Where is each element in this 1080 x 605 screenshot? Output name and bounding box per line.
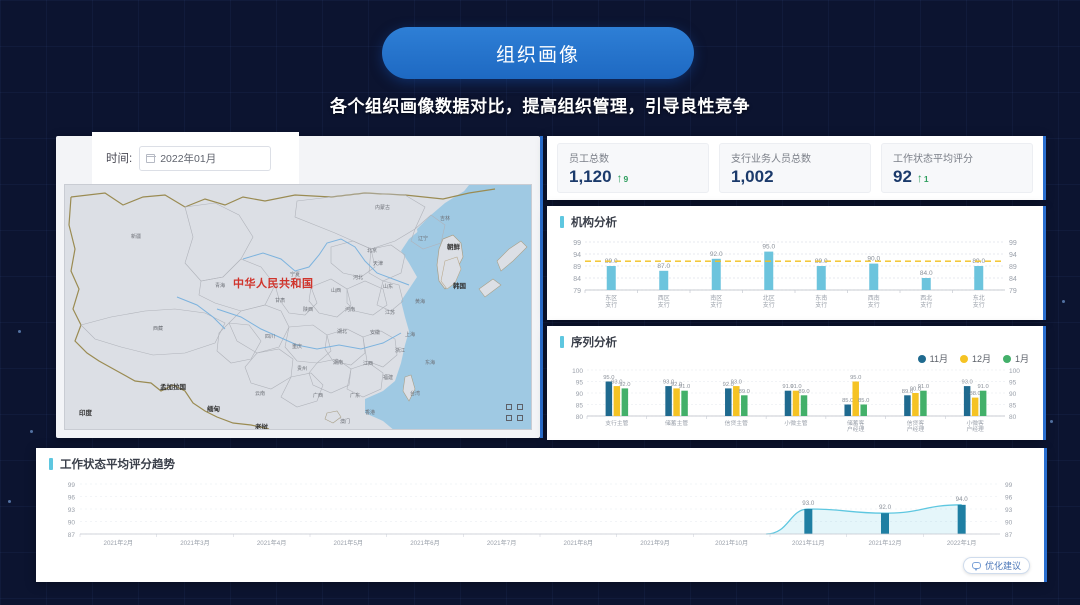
kpi-delta: ↑9: [617, 171, 629, 185]
map-province-label: 河南: [345, 306, 355, 313]
svg-text:东北: 东北: [973, 294, 985, 302]
svg-text:信贷主管: 信贷主管: [725, 419, 748, 427]
svg-text:支行: 支行: [710, 301, 722, 309]
score-trend-title-text: 工作状态平均评分趋势: [60, 456, 175, 472]
svg-text:信贷客: 信贷客: [907, 419, 925, 427]
panel-accent: [1043, 136, 1046, 200]
kpi-label: 工作状态平均评分: [893, 150, 1032, 165]
filter-bar: 时间: 2022年01月: [56, 136, 540, 182]
map-province-label: 东海: [425, 359, 435, 366]
svg-text:92.0: 92.0: [619, 382, 630, 388]
kpi-card: 员工总数1,120↑9: [557, 143, 709, 193]
map-province-label: 安徽: [370, 329, 380, 336]
org-analysis-plot[interactable]: 7979848489899494999989.0东区支行87.0西区支行92.0…: [555, 232, 1035, 316]
svg-text:东区: 东区: [605, 294, 617, 302]
svg-text:93: 93: [68, 507, 76, 514]
svg-text:88.0: 88.0: [969, 391, 980, 397]
svg-text:99: 99: [1005, 482, 1013, 489]
map-province-label: 广东: [350, 392, 360, 399]
map-province-label: 香港: [365, 409, 375, 416]
svg-text:100: 100: [1009, 368, 1020, 375]
map-province-label: 山东: [383, 283, 393, 290]
svg-text:东南: 东南: [815, 294, 827, 302]
china-map[interactable]: 中华人民共和国 新疆内蒙古吉林辽宁青海甘肃宁夏北京天津河北山西山东陕西河南江苏西…: [64, 184, 532, 430]
decor-dot: [18, 330, 21, 333]
kpi-card: 工作状态平均评分92↑1: [881, 143, 1033, 193]
title-accent-bar: [560, 336, 564, 348]
svg-text:96: 96: [68, 495, 76, 502]
page-title-pill: 组织画像: [382, 27, 694, 79]
org-analysis-title-text: 机构分析: [571, 214, 617, 230]
decor-dot: [8, 500, 11, 503]
svg-text:2021年4月: 2021年4月: [257, 539, 287, 547]
svg-text:90: 90: [576, 391, 584, 398]
org-analysis-card: 机构分析 7979848489899494999989.0东区支行87.0西区支…: [547, 206, 1043, 320]
map-province-label: 福建: [383, 374, 393, 381]
svg-text:90: 90: [1005, 520, 1013, 527]
svg-text:80: 80: [576, 414, 584, 421]
svg-text:2022年1月: 2022年1月: [947, 539, 977, 547]
map-province-label: 湖北: [337, 328, 347, 335]
map-province-label: 云南: [255, 390, 265, 397]
svg-text:支行: 支行: [658, 301, 670, 309]
time-filter: 时间: 2022年01月: [92, 132, 299, 184]
svg-text:储蓄客: 储蓄客: [847, 419, 865, 427]
map-province-label: 四川: [265, 333, 275, 340]
optimization-suggestion-button[interactable]: 优化建议: [963, 557, 1030, 574]
kpi-row: 员工总数1,120↑9支行业务人员总数1,002工作状态平均评分92↑1: [547, 136, 1043, 200]
svg-text:支行: 支行: [920, 301, 932, 309]
fullscreen-icon[interactable]: [506, 404, 523, 421]
map-country-neighbor-label: 朝鲜: [447, 241, 460, 251]
kpi-value: 92↑1: [893, 167, 1032, 187]
svg-text:79: 79: [573, 288, 581, 295]
map-province-label: 陕西: [303, 306, 313, 313]
sequence-analysis-plot[interactable]: 808085859090959510010095.093.092.0支行主管93…: [555, 362, 1035, 438]
svg-text:2021年10月: 2021年10月: [715, 539, 748, 547]
svg-text:93.0: 93.0: [731, 380, 742, 386]
svg-text:87.0: 87.0: [657, 263, 670, 270]
optimization-suggestion-label: 优化建议: [985, 559, 1021, 572]
map-province-label: 上海: [405, 331, 415, 338]
svg-text:南区: 南区: [710, 294, 722, 302]
kpi-card: 支行业务人员总数1,002: [719, 143, 871, 193]
map-province-label: 新疆: [131, 233, 141, 240]
page-title: 组织画像: [496, 40, 580, 67]
svg-text:西区: 西区: [658, 295, 670, 302]
map-province-label: 吉林: [440, 215, 450, 222]
svg-text:支行: 支行: [763, 301, 775, 309]
sequence-analysis-title-text: 序列分析: [571, 334, 617, 350]
kpi-label: 支行业务人员总数: [731, 150, 870, 165]
svg-text:89.0: 89.0: [739, 389, 750, 395]
svg-text:84: 84: [573, 276, 581, 283]
map-province-label: 湖南: [333, 359, 343, 366]
map-country-neighbor-label: 印度: [79, 407, 92, 417]
svg-text:95: 95: [1009, 380, 1017, 387]
map-province-label: 江苏: [385, 309, 395, 316]
svg-text:95: 95: [576, 380, 584, 387]
svg-text:93.0: 93.0: [961, 380, 972, 386]
svg-text:79: 79: [1009, 288, 1017, 295]
svg-text:92.0: 92.0: [710, 251, 723, 258]
chat-bubble-icon: [972, 562, 981, 569]
kpi-label: 员工总数: [569, 150, 708, 165]
svg-text:93.0: 93.0: [802, 500, 815, 507]
svg-text:北区: 北区: [763, 294, 775, 302]
svg-text:户经理: 户经理: [847, 425, 865, 433]
svg-text:95.0: 95.0: [850, 375, 861, 381]
svg-text:99: 99: [1009, 240, 1017, 247]
svg-text:91.0: 91.0: [977, 384, 988, 390]
map-province-label: 西藏: [153, 325, 163, 332]
map-country-neighbor-label: 韩国: [453, 280, 466, 290]
time-filter-label: 时间:: [106, 150, 132, 166]
svg-text:户经理: 户经理: [907, 425, 925, 433]
svg-text:西南: 西南: [868, 294, 880, 302]
svg-text:100: 100: [572, 368, 583, 375]
svg-text:85.0: 85.0: [858, 398, 869, 404]
map-province-label: 江西: [363, 360, 373, 367]
panel-accent: [1044, 448, 1047, 582]
svg-text:2021年5月: 2021年5月: [334, 539, 364, 547]
svg-text:89.0: 89.0: [798, 389, 809, 395]
map-province-label: 山西: [331, 287, 341, 294]
panel-accent: [1043, 326, 1046, 440]
map-country-neighbor-label: 孟加拉国: [160, 381, 186, 391]
svg-text:85: 85: [1009, 403, 1017, 410]
svg-text:2021年8月: 2021年8月: [564, 539, 594, 547]
map-province-label: 北京: [367, 247, 377, 254]
svg-text:94: 94: [1009, 252, 1017, 259]
score-trend-plot[interactable]: 878790909393969699992021年2月2021年3月2021年4…: [46, 476, 1034, 554]
calendar-icon: [146, 154, 155, 163]
map-province-label: 天津: [373, 260, 383, 267]
panel-accent: [1043, 206, 1046, 320]
map-province-label: 内蒙古: [375, 204, 390, 211]
map-country-neighbor-label: 老挝: [255, 421, 268, 430]
svg-text:90: 90: [1009, 391, 1017, 398]
svg-text:2021年3月: 2021年3月: [180, 539, 210, 547]
svg-text:95.0: 95.0: [762, 244, 775, 251]
page-subtitle: 各个组织画像数据对比，提高组织管理，引导良性竞争: [0, 92, 1080, 117]
title-accent-bar: [560, 216, 564, 228]
score-trend-card: 工作状态平均评分趋势 878790909393969699992021年2月20…: [36, 448, 1044, 582]
svg-text:户经理: 户经理: [966, 425, 984, 433]
map-province-label: 甘肃: [275, 297, 285, 304]
svg-text:91.0: 91.0: [679, 384, 690, 390]
org-analysis-title: 机构分析: [547, 206, 1043, 230]
kpi-value: 1,120↑9: [569, 167, 708, 187]
map-country-neighbor-label: 缅甸: [207, 403, 220, 413]
panel-accent: [540, 136, 543, 438]
svg-text:小微主管: 小微主管: [784, 419, 807, 427]
svg-text:2021年12月: 2021年12月: [868, 539, 901, 547]
title-accent-bar: [49, 458, 53, 470]
svg-text:91.0: 91.0: [918, 384, 929, 390]
svg-text:99: 99: [573, 240, 581, 247]
svg-text:99: 99: [68, 482, 76, 489]
svg-text:2021年7月: 2021年7月: [487, 539, 517, 547]
svg-text:92.0: 92.0: [879, 504, 892, 511]
kpi-delta: ↑1: [917, 171, 929, 185]
date-input[interactable]: 2022年01月: [139, 146, 271, 171]
svg-text:93: 93: [1005, 507, 1013, 514]
map-province-label: 重庆: [292, 343, 302, 350]
sequence-analysis-title: 序列分析: [547, 326, 1043, 350]
decor-dot: [30, 430, 33, 433]
map-graphic: [65, 185, 532, 430]
svg-text:支行: 支行: [605, 301, 617, 309]
svg-text:支行: 支行: [815, 301, 827, 309]
svg-text:支行主管: 支行主管: [605, 419, 628, 427]
svg-text:94: 94: [573, 252, 581, 259]
svg-text:储蓄主管: 储蓄主管: [665, 419, 688, 427]
decor-dot: [1062, 300, 1065, 303]
map-province-label: 黄海: [415, 298, 425, 305]
svg-text:84: 84: [1009, 276, 1017, 283]
svg-text:2021年11月: 2021年11月: [792, 539, 825, 547]
svg-text:87: 87: [68, 532, 76, 539]
decor-dot: [1050, 420, 1053, 423]
svg-text:85.0: 85.0: [842, 398, 853, 404]
map-province-label: 宁夏: [290, 271, 300, 278]
svg-text:94.0: 94.0: [956, 496, 969, 503]
svg-text:2021年2月: 2021年2月: [104, 539, 134, 547]
svg-text:87: 87: [1005, 532, 1013, 539]
svg-text:89: 89: [1009, 264, 1017, 271]
map-province-label: 台湾: [410, 390, 420, 397]
svg-text:80: 80: [1009, 414, 1017, 421]
kpi-panel: 员工总数1,120↑9支行业务人员总数1,002工作状态平均评分92↑1: [547, 136, 1043, 200]
svg-text:支行: 支行: [973, 301, 985, 309]
map-panel: 时间: 2022年01月: [56, 136, 540, 438]
map-country-label: 中华人民共和国: [233, 275, 314, 291]
svg-text:支行: 支行: [868, 301, 880, 309]
svg-text:85: 85: [576, 403, 584, 410]
map-province-label: 广西: [313, 392, 323, 399]
sequence-analysis-card: 序列分析 11月12月1月 808085859090959510010095.0…: [547, 326, 1043, 440]
svg-text:小微客: 小微客: [966, 419, 984, 427]
svg-text:2021年6月: 2021年6月: [410, 539, 440, 547]
svg-text:2021年9月: 2021年9月: [640, 539, 670, 547]
map-province-label: 澳门: [340, 418, 350, 425]
date-input-value: 2022年01月: [160, 151, 216, 166]
map-province-label: 浙江: [395, 347, 405, 354]
map-province-label: 贵州: [297, 365, 307, 372]
map-province-label: 辽宁: [418, 235, 428, 242]
svg-text:84.0: 84.0: [920, 270, 933, 277]
svg-text:西北: 西北: [920, 294, 932, 302]
map-province-label: 青海: [215, 282, 225, 289]
svg-text:96: 96: [1005, 495, 1013, 502]
kpi-value: 1,002: [731, 167, 870, 187]
score-trend-title: 工作状态平均评分趋势: [36, 448, 1044, 472]
svg-text:89: 89: [573, 264, 581, 271]
map-province-label: 河北: [353, 274, 363, 281]
svg-text:90: 90: [68, 520, 76, 527]
